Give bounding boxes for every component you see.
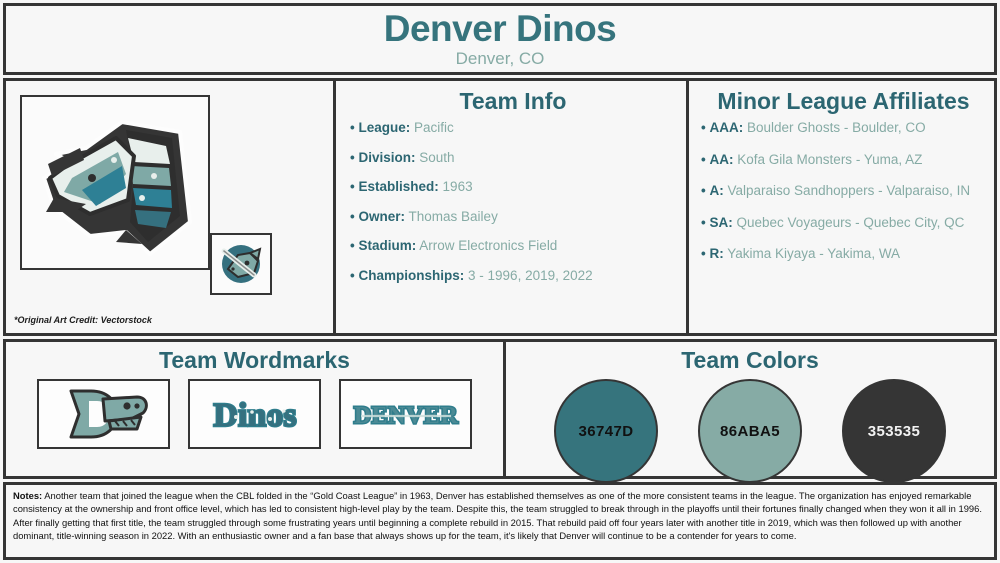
triceratops-head-mascot-icon xyxy=(30,104,200,262)
info-label: Division: xyxy=(359,150,416,165)
wordmarks-row: Dinos Dinos DENVER DENVER xyxy=(6,379,503,449)
list-item: • A: Valparaiso Sandhoppers - Valparaiso… xyxy=(701,183,986,199)
bullet-icon: • xyxy=(350,238,355,253)
bullet-icon: • xyxy=(350,150,355,165)
affiliate-team: Kofa Gila Monsters - Yuma, AZ xyxy=(737,152,922,167)
info-label: Established: xyxy=(359,179,439,194)
affiliate-level: R: xyxy=(710,246,724,261)
art-credit: *Original Art Credit: Vectorstock xyxy=(14,315,152,325)
info-value: 3 - 1996, 2019, 2022 xyxy=(468,268,593,283)
list-item: • League: Pacific xyxy=(350,120,676,136)
primary-logo-frame xyxy=(20,95,210,270)
team-info-panel: Team Info • League: Pacific • Division: … xyxy=(336,81,689,333)
list-item: • Championships: 3 - 1996, 2019, 2022 xyxy=(350,268,676,284)
color-swatch: 86ABA5 xyxy=(698,379,802,483)
page-header: Denver Dinos Denver, CO xyxy=(3,3,997,75)
notes-body: Another team that joined the league when… xyxy=(13,490,982,541)
affiliates-list: • AAA: Boulder Ghosts - Boulder, CO • AA… xyxy=(701,120,986,262)
info-label: Stadium: xyxy=(359,238,417,253)
list-item: • Division: South xyxy=(350,150,676,166)
bullet-icon: • xyxy=(701,120,706,135)
list-item: • R: Yakima Kiyaya - Yakima, WA xyxy=(701,246,986,262)
bullet-icon: • xyxy=(350,120,355,135)
wordmark-dinos: Dinos Dinos xyxy=(188,379,321,449)
affiliate-level: A: xyxy=(710,183,724,198)
affiliate-team: Quebec Voyageurs - Quebec City, QC xyxy=(737,215,965,230)
info-value: 1963 xyxy=(443,179,473,194)
logo-panel: *Original Art Credit: Vectorstock xyxy=(6,81,336,333)
wordmarks-panel: Team Wordmarks Dinos xyxy=(6,342,506,476)
d-dino-skull-wordmark-icon xyxy=(45,385,163,443)
bullet-icon: • xyxy=(701,183,706,198)
wordmark-denver: DENVER DENVER xyxy=(339,379,472,449)
secondary-logo-frame xyxy=(210,233,272,295)
affiliate-level: SA: xyxy=(710,215,733,230)
wordmarks-title: Team Wordmarks xyxy=(6,348,503,373)
bullet-icon: • xyxy=(350,268,355,283)
dinos-wordmark-icon: Dinos Dinos xyxy=(196,385,314,443)
bullet-icon: • xyxy=(350,209,355,224)
list-item: • Stadium: Arrow Electronics Field xyxy=(350,238,676,254)
info-label: Championships: xyxy=(359,268,465,283)
affiliate-team: Valparaiso Sandhoppers - Valparaiso, IN xyxy=(728,183,971,198)
list-item: • Established: 1963 xyxy=(350,179,676,195)
team-location: Denver, CO xyxy=(456,50,545,69)
team-info-title: Team Info xyxy=(350,89,676,114)
color-swatch: 353535 xyxy=(842,379,946,483)
svg-text:Dinos: Dinos xyxy=(213,397,296,434)
notes-panel: Notes: Another team that joined the leag… xyxy=(3,482,997,560)
info-value: Arrow Electronics Field xyxy=(419,238,557,253)
affiliates-panel: Minor League Affiliates • AAA: Boulder G… xyxy=(689,81,994,333)
lower-band: Team Wordmarks Dinos xyxy=(3,339,997,479)
info-value: Pacific xyxy=(414,120,454,135)
bullet-icon: • xyxy=(350,179,355,194)
bullet-icon: • xyxy=(701,215,706,230)
list-item: • AA: Kofa Gila Monsters - Yuma, AZ xyxy=(701,152,986,168)
list-item: • Owner: Thomas Bailey xyxy=(350,209,676,225)
team-info-sheet: Denver Dinos Denver, CO xyxy=(0,0,1000,563)
affiliate-level: AAA: xyxy=(710,120,744,135)
color-swatch: 36747D xyxy=(554,379,658,483)
info-label: Owner: xyxy=(359,209,406,224)
team-colors-title: Team Colors xyxy=(506,348,994,373)
team-colors-panel: Team Colors 36747D 86ABA5 353535 xyxy=(506,342,994,476)
affiliate-team: Yakima Kiyaya - Yakima, WA xyxy=(727,246,900,261)
wordmark-d-dino-skull xyxy=(37,379,170,449)
info-label: League: xyxy=(359,120,411,135)
dino-head-with-bat-icon xyxy=(216,239,266,289)
bullet-icon: • xyxy=(701,152,706,167)
info-value: South xyxy=(419,150,454,165)
affiliates-title: Minor League Affiliates xyxy=(701,89,986,114)
info-value: Thomas Bailey xyxy=(409,209,498,224)
list-item: • AAA: Boulder Ghosts - Boulder, CO xyxy=(701,120,986,136)
swatch-row: 36747D 86ABA5 353535 xyxy=(506,379,994,483)
denver-wordmark-icon: DENVER DENVER xyxy=(347,385,465,443)
page-title: Denver Dinos xyxy=(384,10,617,48)
notes-label: Notes: xyxy=(13,490,42,501)
bullet-icon: • xyxy=(701,246,706,261)
affiliate-level: AA: xyxy=(710,152,734,167)
list-item: • SA: Quebec Voyageurs - Quebec City, QC xyxy=(701,215,986,231)
team-info-list: • League: Pacific • Division: South • Es… xyxy=(350,120,676,283)
affiliate-team: Boulder Ghosts - Boulder, CO xyxy=(747,120,926,135)
middle-band: *Original Art Credit: Vectorstock Team I… xyxy=(3,78,997,336)
